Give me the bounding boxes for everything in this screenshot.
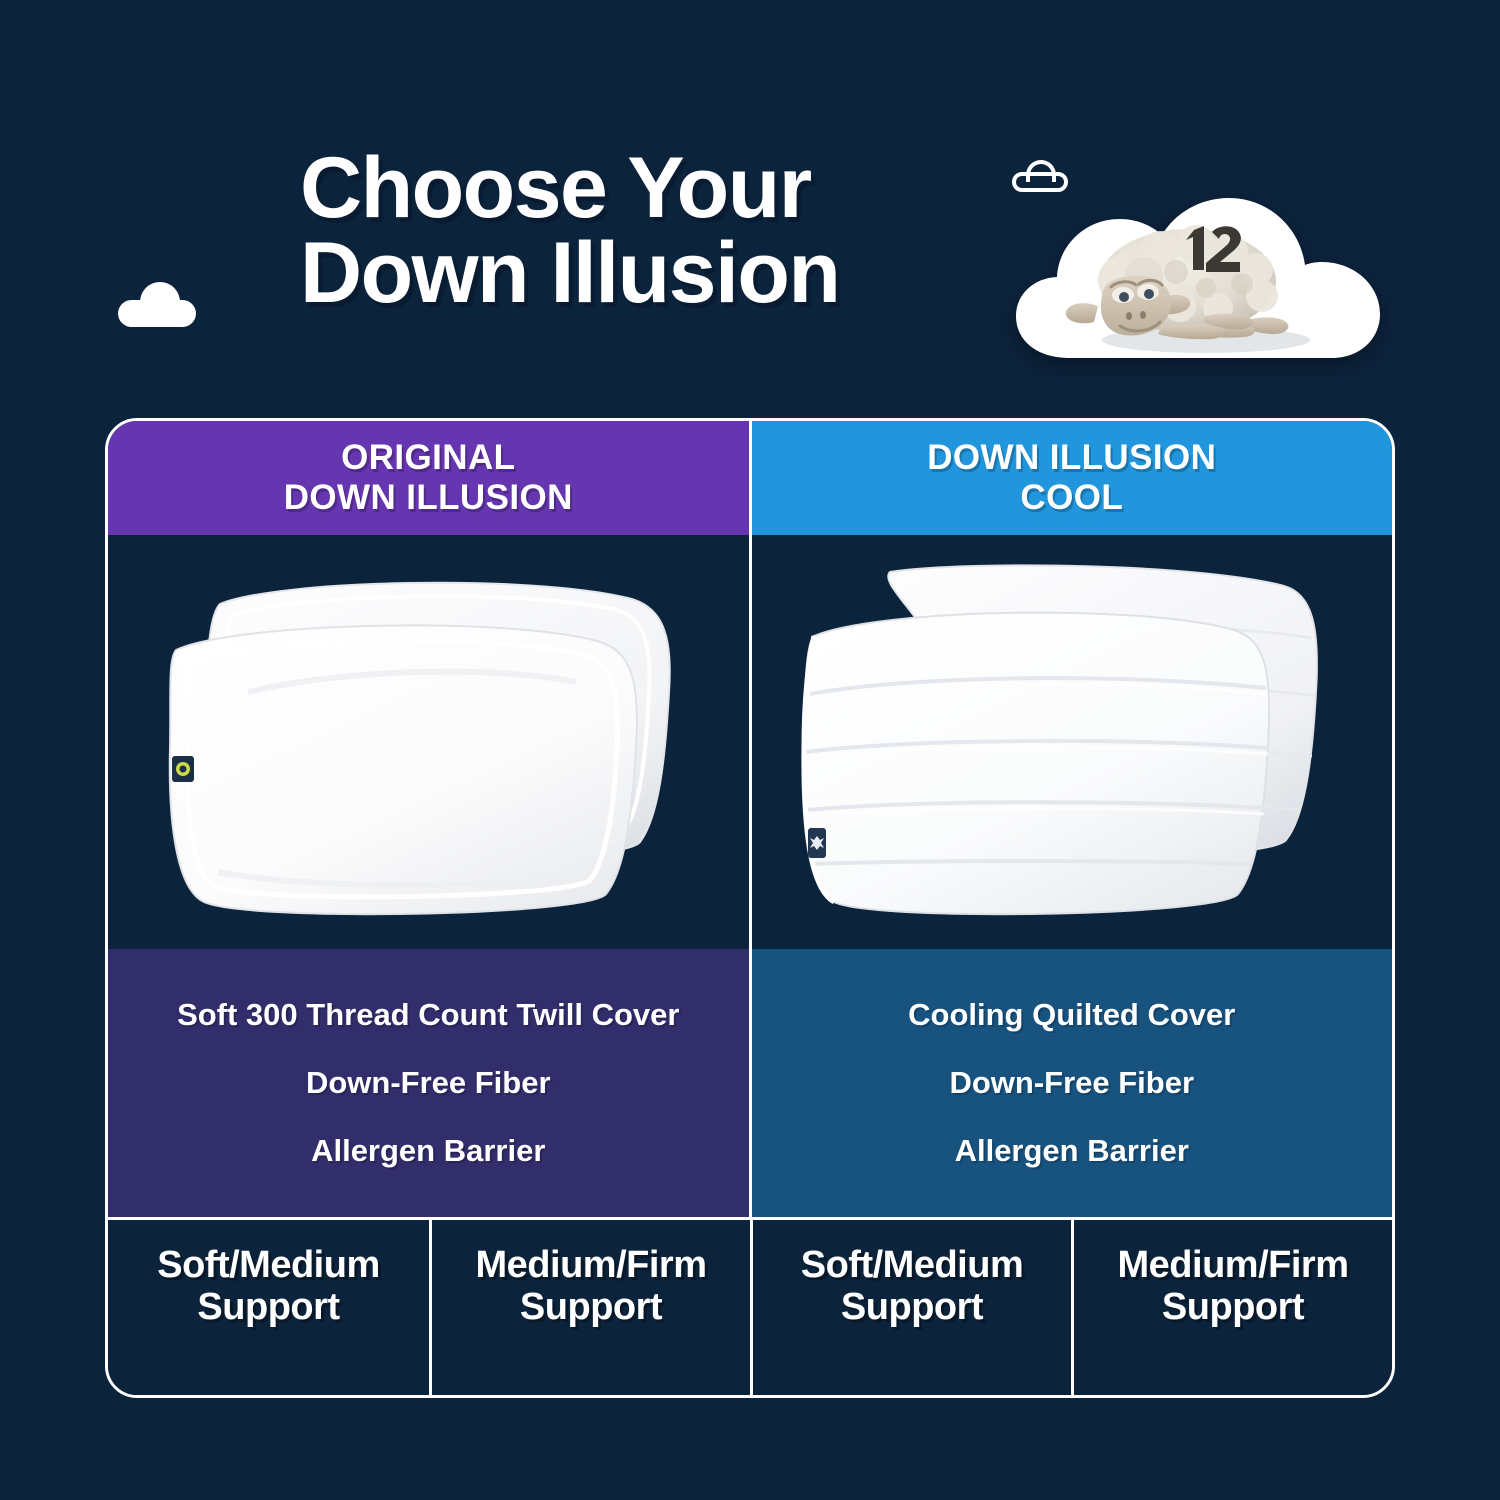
table-feature-row: Soft 300 Thread Count Twill Cover Down-F… xyxy=(108,949,1392,1217)
quilted-pillow-pair-illustration xyxy=(772,542,1372,942)
front-pillow-quilted xyxy=(803,613,1268,915)
feature-list-cool: Cooling Quilted Cover Down-Free Fiber Al… xyxy=(749,949,1393,1217)
support-cell-line-2: Support xyxy=(1118,1287,1349,1328)
product-image-original xyxy=(108,535,749,949)
sheep-on-cloud-icon xyxy=(1010,188,1390,378)
support-cell-original-medium-firm: Medium/Firm Support xyxy=(429,1220,750,1395)
twill-pillow-pair-illustration xyxy=(128,542,728,942)
support-cell-line-1: Medium/Firm xyxy=(1118,1245,1349,1286)
column-header-original-line-2: DOWN ILLUSION xyxy=(284,478,573,518)
table-header-row: ORIGINAL DOWN ILLUSION DOWN ILLUSION COO… xyxy=(108,421,1392,535)
page-title-line-1: Choose Your xyxy=(300,146,1000,231)
comparison-table: ORIGINAL DOWN ILLUSION DOWN ILLUSION COO… xyxy=(105,418,1395,1398)
sheep-mascot-illustration xyxy=(1010,188,1390,378)
product-image-cool xyxy=(749,535,1393,949)
table-support-row: Soft/Medium Support Medium/Firm Support … xyxy=(108,1217,1392,1395)
column-header-cool: DOWN ILLUSION COOL xyxy=(749,421,1393,535)
page-title: Choose Your Down Illusion xyxy=(300,146,1000,316)
hero-section: Choose Your Down Illusion xyxy=(0,0,1500,400)
support-cell-original-soft-medium: Soft/Medium Support xyxy=(108,1220,429,1395)
brand-tag-icon xyxy=(808,828,826,858)
feature-item: Allergen Barrier xyxy=(955,1133,1189,1169)
support-cell-line-2: Support xyxy=(801,1287,1023,1328)
feature-item: Down-Free Fiber xyxy=(949,1065,1194,1101)
brand-tag-icon xyxy=(172,756,194,782)
support-cell-line-1: Soft/Medium xyxy=(801,1245,1023,1286)
support-cell-line-2: Support xyxy=(476,1287,707,1328)
feature-item: Soft 300 Thread Count Twill Cover xyxy=(177,997,679,1033)
column-header-cool-line-1: DOWN ILLUSION xyxy=(927,438,1216,478)
cloud-icon xyxy=(118,282,196,327)
column-header-original-line-1: ORIGINAL xyxy=(284,438,573,478)
feature-item: Cooling Quilted Cover xyxy=(908,997,1235,1033)
feature-item: Allergen Barrier xyxy=(311,1133,545,1169)
column-header-cool-line-2: COOL xyxy=(927,478,1216,518)
column-header-original: ORIGINAL DOWN ILLUSION xyxy=(108,421,749,535)
feature-item: Down-Free Fiber xyxy=(306,1065,551,1101)
support-cell-line-2: Support xyxy=(157,1287,379,1328)
page-title-line-2: Down Illusion xyxy=(300,231,1000,316)
support-cell-line-1: Medium/Firm xyxy=(476,1245,707,1286)
support-cell-cool-medium-firm: Medium/Firm Support xyxy=(1071,1220,1392,1395)
front-pillow xyxy=(170,625,637,914)
table-image-row xyxy=(108,535,1392,949)
feature-list-original: Soft 300 Thread Count Twill Cover Down-F… xyxy=(108,949,749,1217)
support-cell-line-1: Soft/Medium xyxy=(157,1245,379,1286)
cloud-icon-base xyxy=(118,300,196,327)
support-cell-cool-soft-medium: Soft/Medium Support xyxy=(750,1220,1071,1395)
